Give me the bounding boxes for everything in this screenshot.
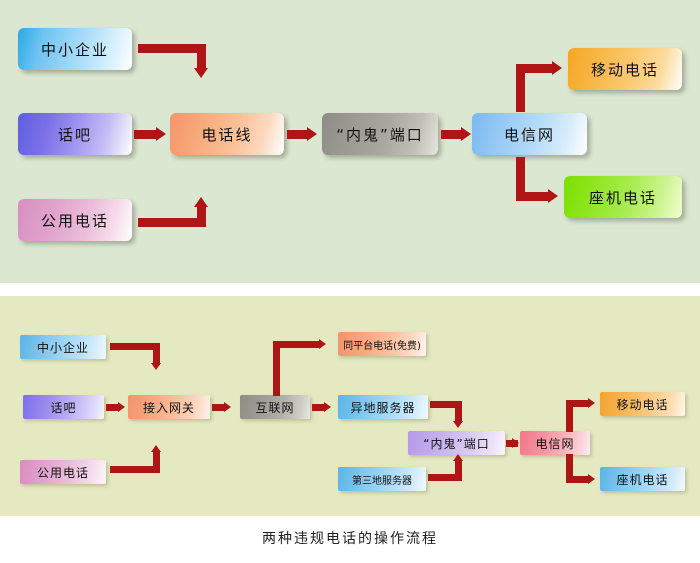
edge-thirdsrv-to-port2-arrowhead xyxy=(453,454,463,461)
node-huaba[interactable]: 话吧 xyxy=(18,113,132,155)
edge-telnet2-to-mobile2-h xyxy=(566,400,590,407)
edge-gateway-to-internet-arrowhead xyxy=(224,402,231,412)
node-huaba-2[interactable]: 话吧 xyxy=(23,395,104,419)
node-insider-port[interactable]: “内鬼”端口 xyxy=(322,113,438,155)
node-label: 接入网关 xyxy=(143,399,195,416)
node-label: 中小企业 xyxy=(37,339,89,356)
node-label: 话吧 xyxy=(58,124,92,145)
edge-sme-to-phoneline-h xyxy=(138,44,206,53)
edge-huaba-to-phoneline-arrowhead xyxy=(156,127,166,141)
edge-payphone2-to-gateway-arrowhead xyxy=(151,445,161,452)
node-label: 公用电话 xyxy=(37,464,89,481)
edge-payphone-to-phoneline-v xyxy=(197,205,206,227)
node-label: 移动电话 xyxy=(616,396,668,413)
edge-huaba-to-phoneline-h xyxy=(134,130,158,139)
edge-phoneline-to-port-arrowhead xyxy=(307,127,317,141)
edge-sme-to-phoneline-arrowhead xyxy=(194,68,208,78)
node-label: “内鬼”端口 xyxy=(423,435,489,452)
edge-telnet-to-mobile-arrowhead xyxy=(552,61,562,75)
edge-payphone-to-phoneline-h xyxy=(138,218,206,227)
edge-telnet-to-landline-arrowhead xyxy=(548,189,558,203)
node-telecom-network[interactable]: 电信网 xyxy=(472,113,587,155)
node-label: 公用电话 xyxy=(41,210,109,231)
node-sme-2[interactable]: 中小企业 xyxy=(20,335,106,359)
node-mobile-phone[interactable]: 移动电话 xyxy=(568,48,682,90)
edge-internet-to-sameplat-arrowhead xyxy=(319,339,326,349)
edge-phoneline-to-port-h xyxy=(287,130,309,139)
node-label: 电信网 xyxy=(535,435,574,452)
node-label: 同平台电话(免费) xyxy=(343,337,421,352)
node-remote-server[interactable]: 异地服务器 xyxy=(338,395,428,419)
edge-telnet-to-mobile-v xyxy=(516,70,525,112)
node-label: 中小企业 xyxy=(41,39,109,60)
edge-telnet2-to-mobile2-arrowhead xyxy=(588,398,595,408)
edge-remotesrv-to-port2-arrowhead xyxy=(453,421,463,428)
edge-internet-to-sameplat-v xyxy=(273,341,280,396)
edge-remotesrv-to-port2-v xyxy=(455,401,462,423)
edge-thirdsrv-to-port2-v xyxy=(455,460,462,481)
node-label: 第三地服务器 xyxy=(352,472,412,487)
node-label: 座机电话 xyxy=(616,471,668,488)
edge-sme-to-phoneline-v xyxy=(197,44,206,70)
node-telecom-network-2[interactable]: 电信网 xyxy=(520,431,590,455)
edge-telnet2-to-landline2-h xyxy=(566,476,590,483)
top-flow-panel: 中小企业 话吧 公用电话 电话线 “内鬼”端口 电信网 移动电话 座机电话 xyxy=(0,0,700,283)
node-sme[interactable]: 中小企业 xyxy=(18,28,132,70)
edge-internet-to-sameplat-h xyxy=(273,341,321,348)
node-label: “内鬼”端口 xyxy=(336,124,424,145)
edge-port-to-telnet-h xyxy=(441,130,463,139)
node-payphone[interactable]: 公用电话 xyxy=(18,199,132,241)
figure-caption: 两种违规电话的操作流程 xyxy=(0,528,700,548)
node-insider-port-2[interactable]: “内鬼”端口 xyxy=(408,431,505,455)
node-mobile-phone-2[interactable]: 移动电话 xyxy=(600,392,685,416)
node-payphone-2[interactable]: 公用电话 xyxy=(20,460,106,484)
edge-port2-to-telnet2-arrowhead xyxy=(512,438,519,448)
node-internet[interactable]: 互联网 xyxy=(240,395,310,419)
edge-internet-to-remotesrv-arrowhead xyxy=(324,402,331,412)
node-label: 话吧 xyxy=(50,399,76,416)
edge-telnet-to-landline-h xyxy=(516,192,550,201)
edge-telnet2-to-landline2-arrowhead xyxy=(588,474,595,484)
edge-telnet-to-mobile-h xyxy=(516,64,554,73)
edge-payphone-to-phoneline-arrowhead xyxy=(194,197,208,207)
edge-port-to-telnet-arrowhead xyxy=(461,127,471,141)
node-landline-phone-2[interactable]: 座机电话 xyxy=(600,467,685,491)
node-label: 电话线 xyxy=(201,124,252,145)
edge-sme2-to-gateway-arrowhead xyxy=(151,363,161,370)
node-label: 电信网 xyxy=(504,124,555,145)
node-label: 移动电话 xyxy=(591,59,659,80)
edge-huaba2-to-gateway-arrowhead xyxy=(118,402,125,412)
node-access-gateway[interactable]: 接入网关 xyxy=(128,395,210,419)
node-phoneline[interactable]: 电话线 xyxy=(170,113,284,155)
node-label: 异地服务器 xyxy=(350,399,415,416)
node-landline-phone[interactable]: 座机电话 xyxy=(564,176,682,218)
node-label: 座机电话 xyxy=(589,187,657,208)
node-same-platform-call[interactable]: 同平台电话(免费) xyxy=(338,332,426,356)
edge-sme2-to-gateway-v xyxy=(153,343,160,365)
node-label: 互联网 xyxy=(255,399,294,416)
edge-payphone2-to-gateway-v xyxy=(153,451,160,473)
bottom-flow-panel: 中小企业 话吧 公用电话 接入网关 互联网 同平台电话(免费) 异地服务器 第三… xyxy=(0,296,700,516)
node-third-location-server[interactable]: 第三地服务器 xyxy=(338,467,426,491)
